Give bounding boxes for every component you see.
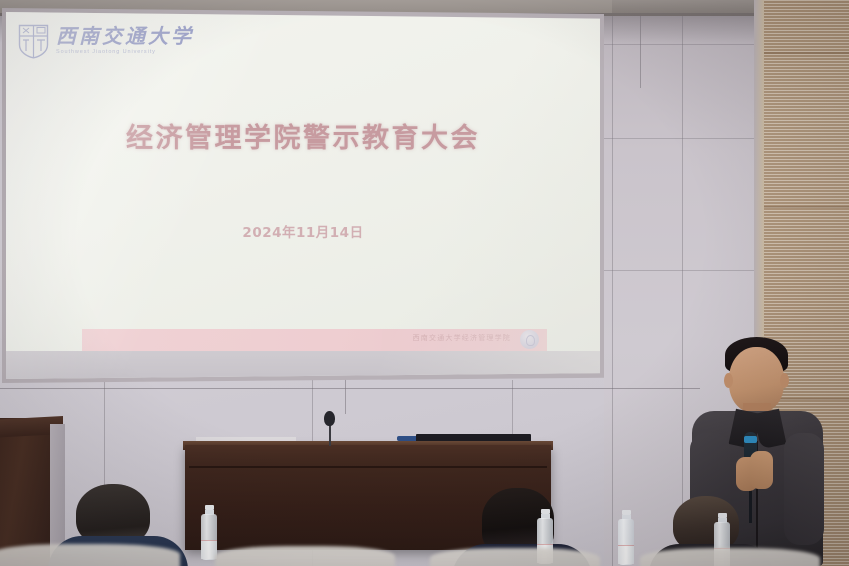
logo-english-name: Southwest Jiaotong University xyxy=(56,50,194,56)
wall-seam xyxy=(604,138,764,139)
logo-text-block: 西南交通大学 Southwest Jiaotong University xyxy=(56,27,194,56)
wood-panel-seam xyxy=(764,52,849,54)
wood-panel-seam xyxy=(764,206,849,208)
podium-groove xyxy=(189,466,547,468)
wall-seam xyxy=(682,16,683,566)
foreground-desk xyxy=(640,548,820,566)
foreground-desk xyxy=(430,548,600,566)
slide-date: 2024年11月14日 xyxy=(6,221,600,241)
wall-seam xyxy=(604,44,764,45)
screen-glare xyxy=(6,12,600,379)
slide-title: 经济管理学院警示教育大会 xyxy=(6,116,600,155)
lecture-hall-photo: 西南交通大学 Southwest Jiaotong University 经济管… xyxy=(0,0,849,566)
bottle-body xyxy=(201,514,217,560)
speaker-arm-right xyxy=(784,433,824,545)
speaker-hand-right xyxy=(750,451,773,489)
ceiling-wire xyxy=(640,16,641,88)
school-emblem-circle-icon xyxy=(520,330,539,349)
foreground-desk xyxy=(215,546,395,566)
handheld-microphone-band xyxy=(744,436,757,443)
slide-footer-band: 西南交通大学经济管理学院 xyxy=(82,329,547,351)
bottle-label xyxy=(618,545,634,564)
logo-chinese-name: 西南交通大学 xyxy=(56,27,194,47)
projection-screen: 西南交通大学 Southwest Jiaotong University 经济管… xyxy=(6,12,600,379)
slide-footer-text: 西南交通大学经济管理学院 xyxy=(413,333,511,343)
gooseneck-microphone-icon xyxy=(324,411,335,426)
foreground-desk xyxy=(0,544,180,566)
university-logo: 西南交通大学 Southwest Jiaotong University xyxy=(18,24,194,59)
speaker-ear-right xyxy=(780,373,789,388)
speaker-ear-left xyxy=(724,373,733,388)
wall-seam xyxy=(612,16,613,566)
wall-seam xyxy=(0,388,700,389)
wall-seam xyxy=(604,270,764,271)
bottle-body xyxy=(618,519,634,565)
university-crest-shield-icon xyxy=(18,24,49,59)
